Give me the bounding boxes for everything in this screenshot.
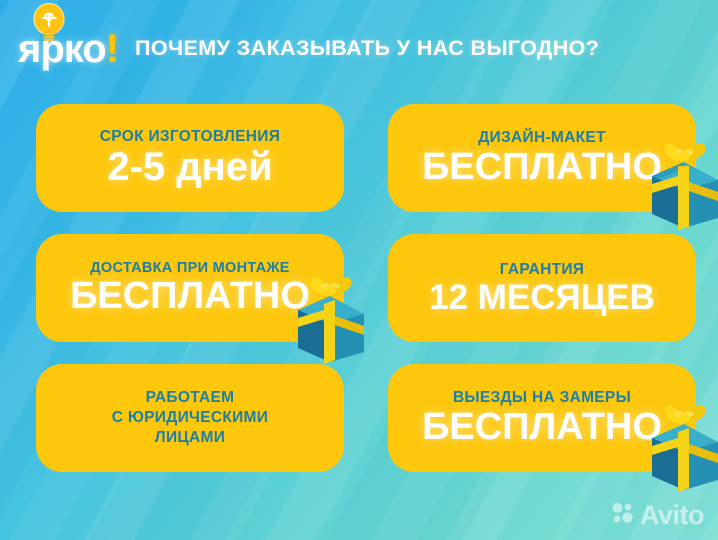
avito-watermark: Avito [611,501,704,530]
benefit-line-3: ЛИЦАМИ [155,429,225,447]
benefit-value: БЕСПЛАТНО [70,277,310,316]
avito-label: Avito [640,502,704,529]
avito-dots-icon [611,501,635,530]
benefits-grid: СРОК ИЗГОТОВЛЕНИЯ 2-5 дней ДИЗАЙН-МАКЕТ … [0,104,718,472]
promo-poster: ярко ! ПОЧЕМУ ЗАКАЗЫВАТЬ У НАС ВЫГОДНО? … [0,0,718,540]
brand-logo[interactable]: ярко ! [18,29,119,69]
benefit-line-2: С ЮРИДИЧЕСКИМИ [112,409,268,427]
benefit-value: 2-5 дней [107,147,272,188]
brand-logo-text: ярко [18,29,106,69]
brand-logo-exclaim: ! [106,29,119,69]
benefit-eyebrow: СРОК ИЗГОТОВЛЕНИЯ [100,128,280,146]
benefit-eyebrow: ДИЗАЙН-МАКЕТ [478,129,606,147]
page-title: ПОЧЕМУ ЗАКАЗЫВАТЬ У НАС ВЫГОДНО? [135,36,599,61]
benefit-card-design-mockup[interactable]: ДИЗАЙН-МАКЕТ БЕСПЛАТНО [388,104,696,212]
benefit-card-measurement-visits[interactable]: ВЫЕЗДЫ НА ЗАМЕРЫ БЕСПЛАТНО [388,364,696,472]
benefit-card-production-time[interactable]: СРОК ИЗГОТОВЛЕНИЯ 2-5 дней [36,104,344,212]
benefit-eyebrow: ДОСТАВКА ПРИ МОНТАЖЕ [90,260,290,277]
benefit-card-legal-entities[interactable]: РАБОТАЕМ С ЮРИДИЧЕСКИМИ ЛИЦАМИ [36,364,344,472]
benefit-card-delivery-with-installation[interactable]: ДОСТАВКА ПРИ МОНТАЖЕ БЕСПЛАТНО [36,234,344,342]
poster-header: ярко ! ПОЧЕМУ ЗАКАЗЫВАТЬ У НАС ВЫГОДНО? [0,0,718,92]
benefit-line-1: РАБОТАЕМ [146,389,235,407]
benefit-card-warranty[interactable]: ГАРАНТИЯ 12 МЕСЯЦЕВ [388,234,696,342]
benefit-value: 12 МЕСЯЦЕВ [429,280,655,316]
benefit-value: БЕСПЛАТНО [422,148,662,187]
benefit-value: БЕСПЛАТНО [422,408,662,447]
benefit-multiline: РАБОТАЕМ С ЮРИДИЧЕСКИМИ ЛИЦАМИ [112,389,268,446]
benefit-eyebrow: ВЫЕЗДЫ НА ЗАМЕРЫ [453,389,631,407]
benefit-eyebrow: ГАРАНТИЯ [500,261,585,279]
